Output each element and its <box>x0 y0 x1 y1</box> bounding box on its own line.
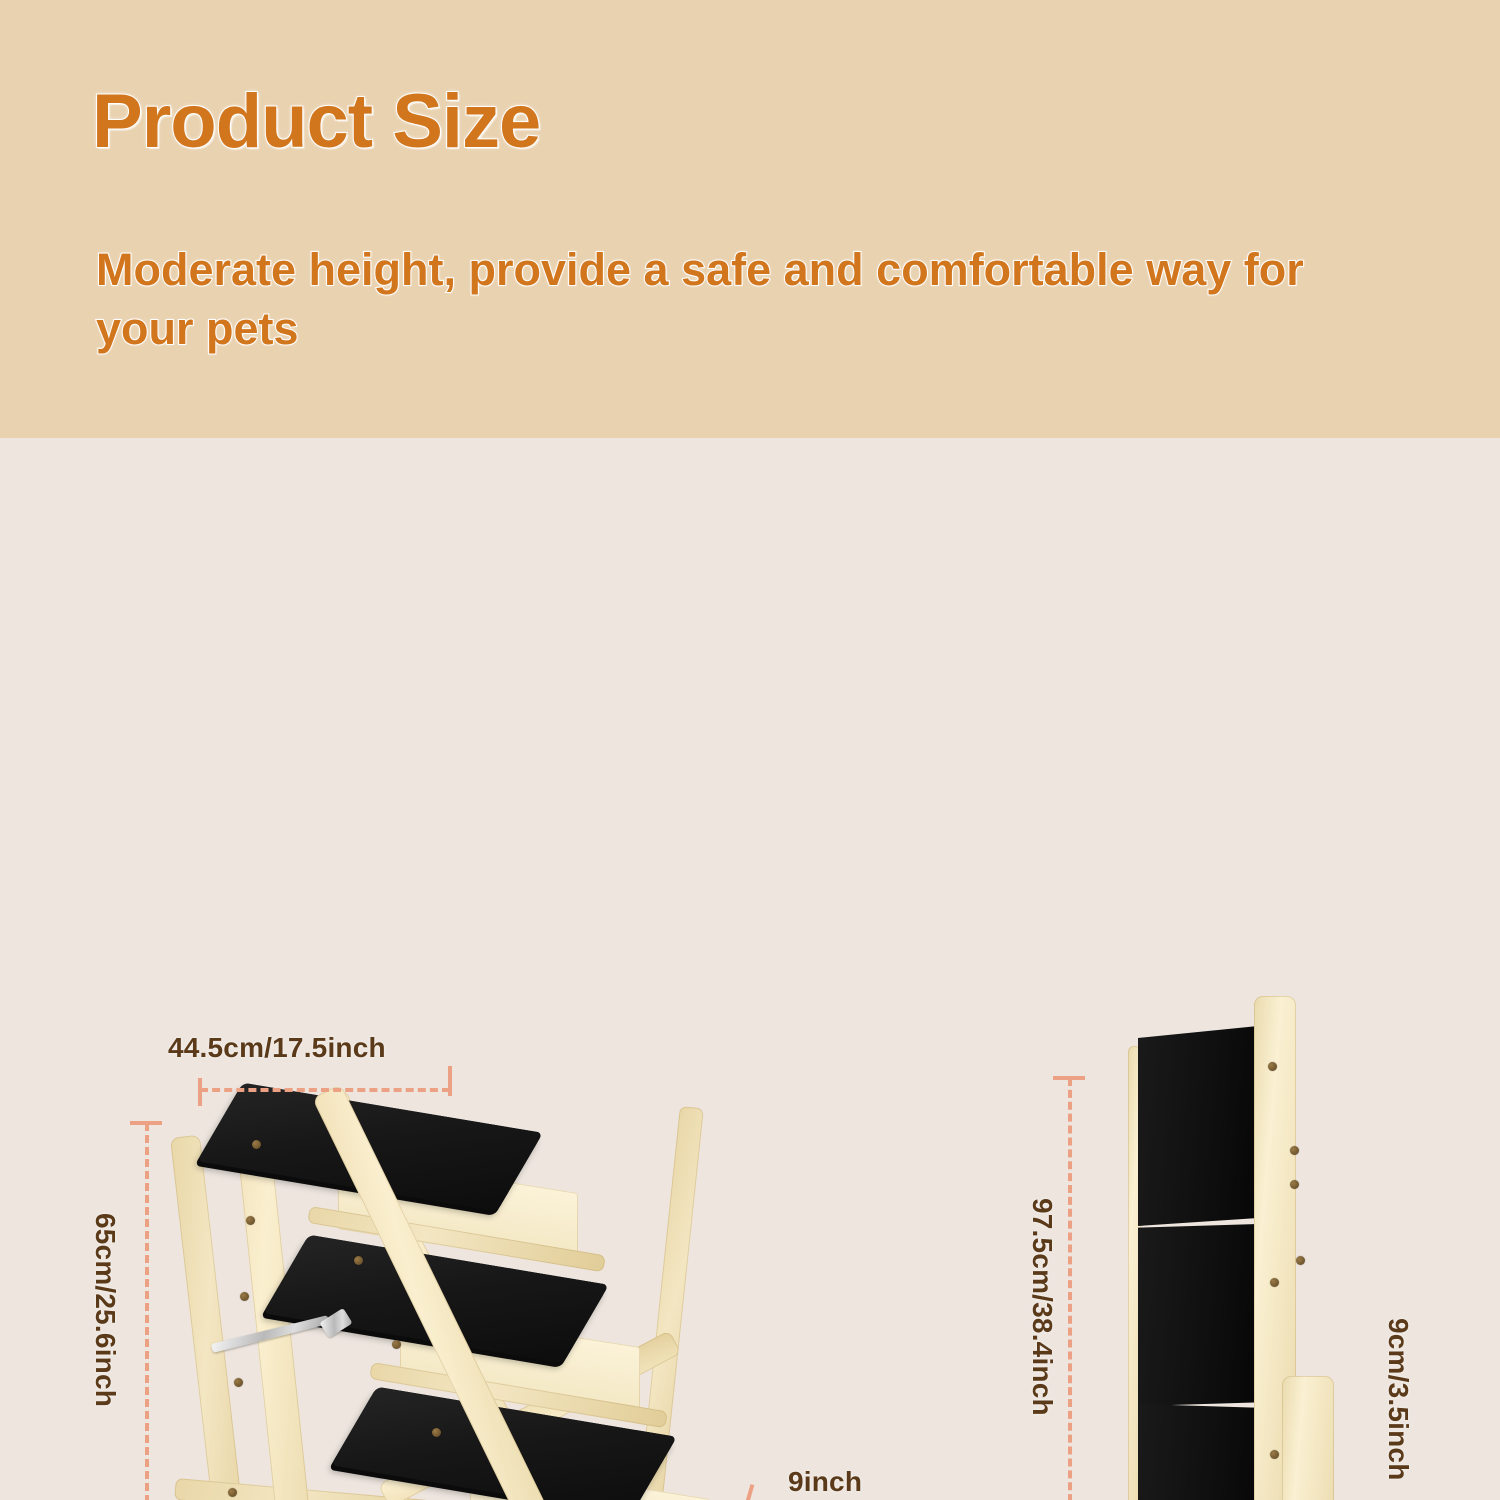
screw-icon <box>234 1378 243 1387</box>
header-band: Product Size Moderate height, provide a … <box>0 0 1500 438</box>
screw-icon <box>1268 1062 1277 1071</box>
dimension-line-folded-height <box>1068 1078 1072 1500</box>
dimension-label-overall-height: 65cm/25.6inch <box>89 1213 121 1407</box>
screw-icon <box>240 1292 249 1301</box>
screw-icon <box>1270 1278 1279 1287</box>
folded-pad-panel <box>1138 1224 1258 1406</box>
screw-icon <box>1270 1450 1279 1459</box>
pet-stairs-unfolded-illustration <box>140 1078 900 1500</box>
page-title: Product Size <box>92 84 540 160</box>
infographic-page: Product Size Moderate height, provide a … <box>0 0 1500 1500</box>
dimension-line-overall-height <box>145 1123 149 1500</box>
dimension-tick-left <box>198 1078 202 1106</box>
screw-icon <box>1290 1146 1299 1155</box>
dimension-label-step-depth: 9inch <box>788 1466 862 1498</box>
dimension-label-folded-height: 97.5cm/38.4inch <box>1026 1198 1058 1416</box>
product-illustration-area: 44.5cm/17.5inch 65cm/25.6inch 79cm/31inc… <box>0 438 1500 1500</box>
dimension-tick-top <box>1053 1076 1085 1080</box>
page-subtitle: Moderate height, provide a safe and comf… <box>96 240 1396 359</box>
pet-stairs-folded-illustration <box>1110 978 1410 1500</box>
screw-icon <box>252 1140 261 1149</box>
screw-icon <box>1296 1256 1305 1265</box>
dimension-tick-right <box>448 1066 452 1096</box>
screw-icon <box>1290 1180 1299 1189</box>
folded-pad-panel <box>1138 1404 1258 1500</box>
folded-pad-panel <box>1138 1026 1258 1226</box>
dimension-tick-top <box>130 1121 162 1125</box>
screw-icon <box>432 1428 441 1437</box>
dimension-line-top-step-width <box>200 1088 450 1092</box>
dimension-label-folded-thickness: 9cm/3.5inch <box>1382 1318 1414 1481</box>
folded-secondary-board <box>1282 1376 1334 1500</box>
screw-icon <box>246 1216 255 1225</box>
screw-icon <box>392 1340 401 1349</box>
screw-icon <box>228 1488 237 1497</box>
screw-icon <box>354 1256 363 1265</box>
dimension-label-top-step-width: 44.5cm/17.5inch <box>168 1032 386 1064</box>
